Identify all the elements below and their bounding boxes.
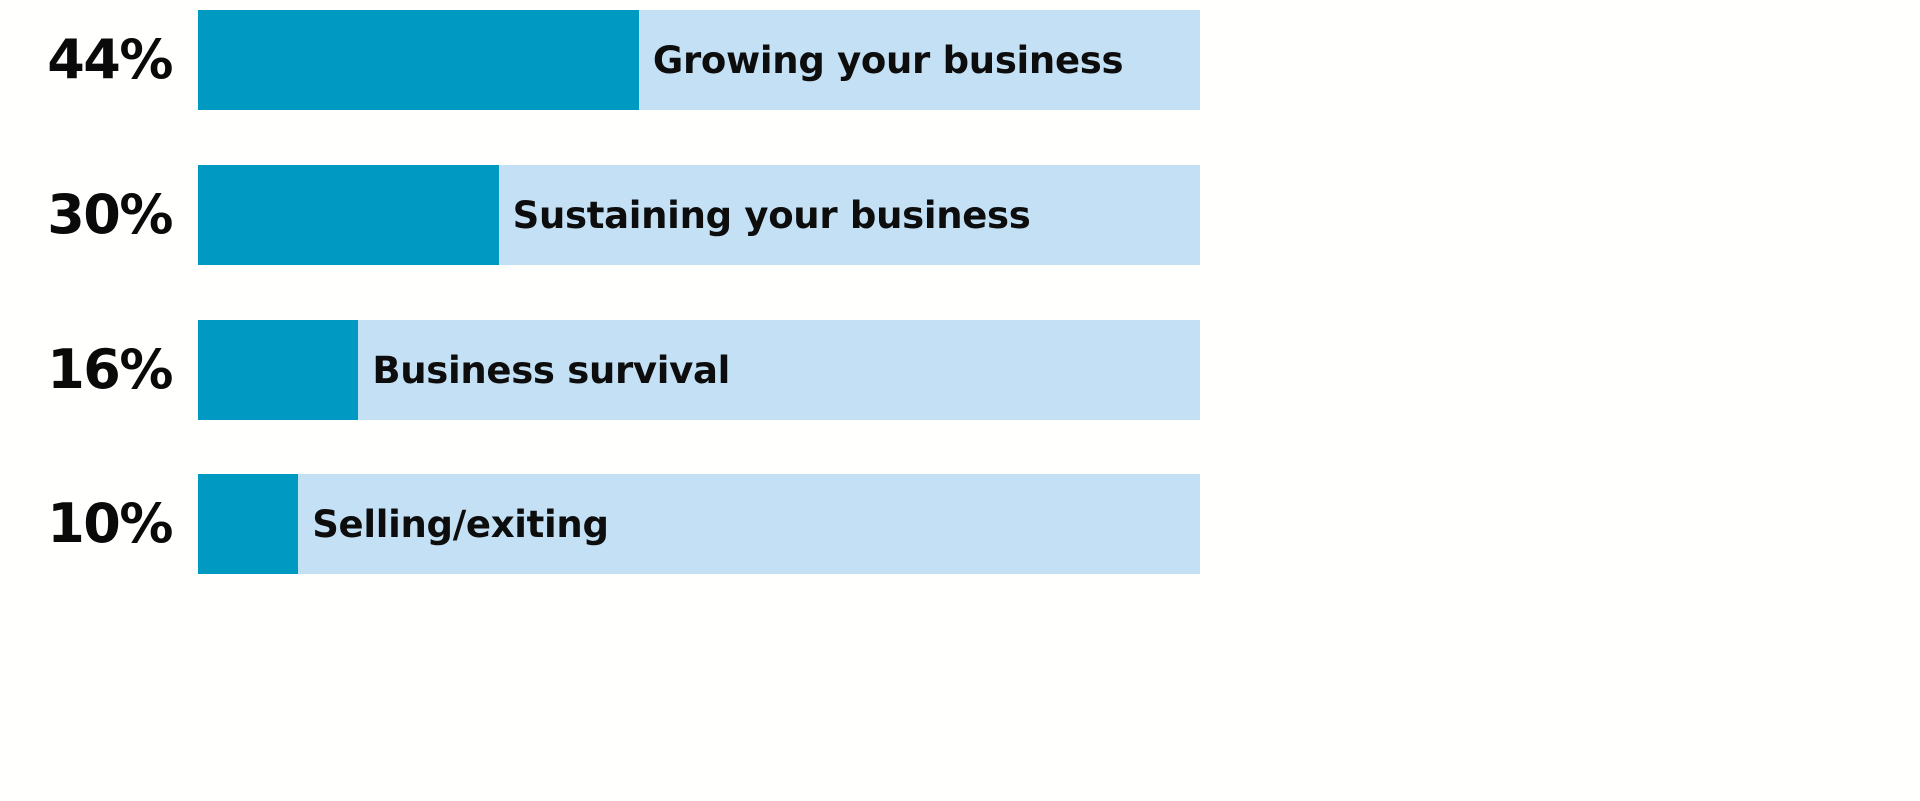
bar-fill [198, 320, 358, 420]
bar-row: 30% Sustaining your business [0, 165, 1920, 265]
bar-fill [198, 165, 499, 265]
bar-value-label: 10% [0, 474, 172, 574]
bar-row: 16% Business survival [0, 320, 1920, 420]
bar-track: Business survival [198, 320, 1200, 420]
bar-track: Growing your business [198, 10, 1200, 110]
bar-track: Sustaining your business [198, 165, 1200, 265]
bar-value-label: 44% [0, 10, 172, 110]
bar-row: 10% Selling/exiting [0, 474, 1920, 574]
bar-category-label: Sustaining your business [513, 165, 1031, 265]
bar-fill [198, 10, 639, 110]
bar-category-label: Business survival [372, 320, 730, 420]
bar-category-label: Growing your business [653, 10, 1123, 110]
bar-row: 44% Growing your business [0, 10, 1920, 110]
bar-value-label: 16% [0, 320, 172, 420]
bar-category-label: Selling/exiting [312, 474, 608, 574]
bar-value-label: 30% [0, 165, 172, 265]
bar-fill [198, 474, 298, 574]
horizontal-bar-chart: 44% Growing your business 30% Sustaining… [0, 0, 1920, 801]
bar-track: Selling/exiting [198, 474, 1200, 574]
